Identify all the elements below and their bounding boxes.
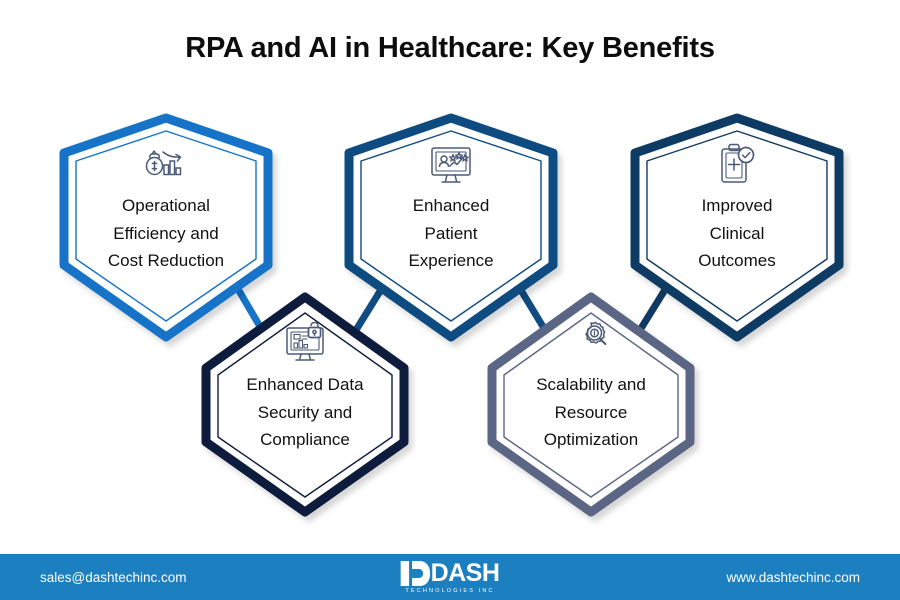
footer-website[interactable]: www.dashtechinc.com (726, 554, 860, 600)
pentagon-diagram (0, 0, 900, 600)
pentagon-patient-experience[interactable] (349, 118, 553, 337)
pentagon-operational-efficiency[interactable] (64, 118, 268, 337)
footer-bar: sales@dashtechinc.com DASH TECHNOLOGIES … (0, 554, 900, 600)
logo-wordmark: DASH (401, 560, 500, 586)
logo-text: DASH (431, 561, 500, 586)
pentagon-scalability[interactable] (492, 297, 690, 512)
infographic-canvas: RPA and AI in Healthcare: Key Benefits (0, 0, 900, 600)
logo-tagline: TECHNOLOGIES INC (405, 588, 494, 594)
dash-logo[interactable]: DASH TECHNOLOGIES INC (401, 554, 500, 600)
pentagon-data-security[interactable] (206, 297, 404, 512)
dash-d-mark-icon (401, 561, 431, 586)
footer-email[interactable]: sales@dashtechinc.com (40, 554, 187, 600)
